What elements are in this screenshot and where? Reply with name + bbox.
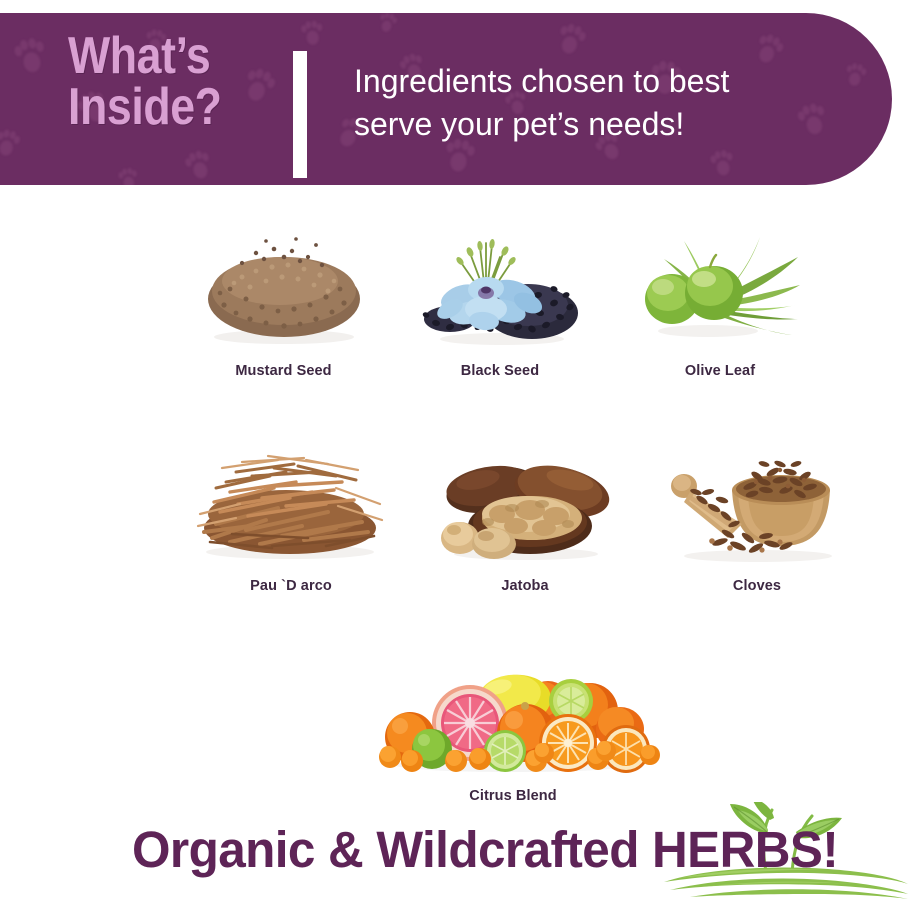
ingredient-item-mustard-seed: Mustard Seed — [196, 227, 371, 379]
footer-title: Organic & Wildcrafted HERBS! — [132, 820, 838, 879]
ingredient-label: Mustard Seed — [196, 363, 371, 379]
product-ingredients-infographic: What’s Inside? Ingredients chosen to bes… — [0, 0, 922, 906]
ingredient-row: Pau `D arco — [0, 420, 922, 635]
ingredient-grid: Mustard Seed — [0, 205, 922, 795]
banner-title-line-1: What’s — [68, 31, 257, 82]
banner-subtitle-line-2: serve your pet’s needs! — [354, 103, 824, 146]
black-seed-image — [420, 227, 580, 352]
banner-subtitle: Ingredients chosen to best serve your pe… — [354, 60, 824, 145]
banner-subtitle-line-1: Ingredients chosen to best — [354, 60, 824, 103]
ingredient-item-pau-darco: Pau `D arco — [186, 442, 396, 594]
jatoba-image — [430, 442, 620, 567]
header-banner: What’s Inside? Ingredients chosen to bes… — [0, 13, 892, 185]
mustard-seed-image — [196, 227, 371, 352]
footer: Organic & Wildcrafted HERBS! — [0, 806, 922, 906]
ingredient-label: Jatoba — [430, 578, 620, 594]
ingredient-item-cloves: Cloves — [662, 442, 852, 594]
citrus-blend-image — [368, 657, 658, 777]
ingredient-row: Mustard Seed — [0, 205, 922, 420]
banner-title-line-2: Inside? — [68, 82, 257, 133]
banner-divider — [293, 51, 307, 178]
ingredient-item-jatoba: Jatoba — [430, 442, 620, 594]
ingredient-label: Cloves — [662, 578, 852, 594]
ingredient-item-olive-leaf: Olive Leaf — [640, 227, 800, 379]
ingredient-label: Olive Leaf — [640, 363, 800, 379]
cloves-image — [662, 442, 852, 567]
ingredient-label: Pau `D arco — [186, 578, 396, 594]
ingredient-label: Black Seed — [420, 363, 580, 379]
ingredient-item-black-seed: Black Seed — [420, 227, 580, 379]
ingredient-row: Citrus Blend — [0, 635, 922, 795]
banner-title: What’s Inside? — [68, 31, 257, 133]
ingredient-item-citrus-blend: Citrus Blend — [368, 657, 658, 804]
pau-darco-image — [186, 442, 396, 567]
olive-leaf-image — [640, 227, 800, 352]
ingredient-label: Citrus Blend — [368, 788, 658, 804]
